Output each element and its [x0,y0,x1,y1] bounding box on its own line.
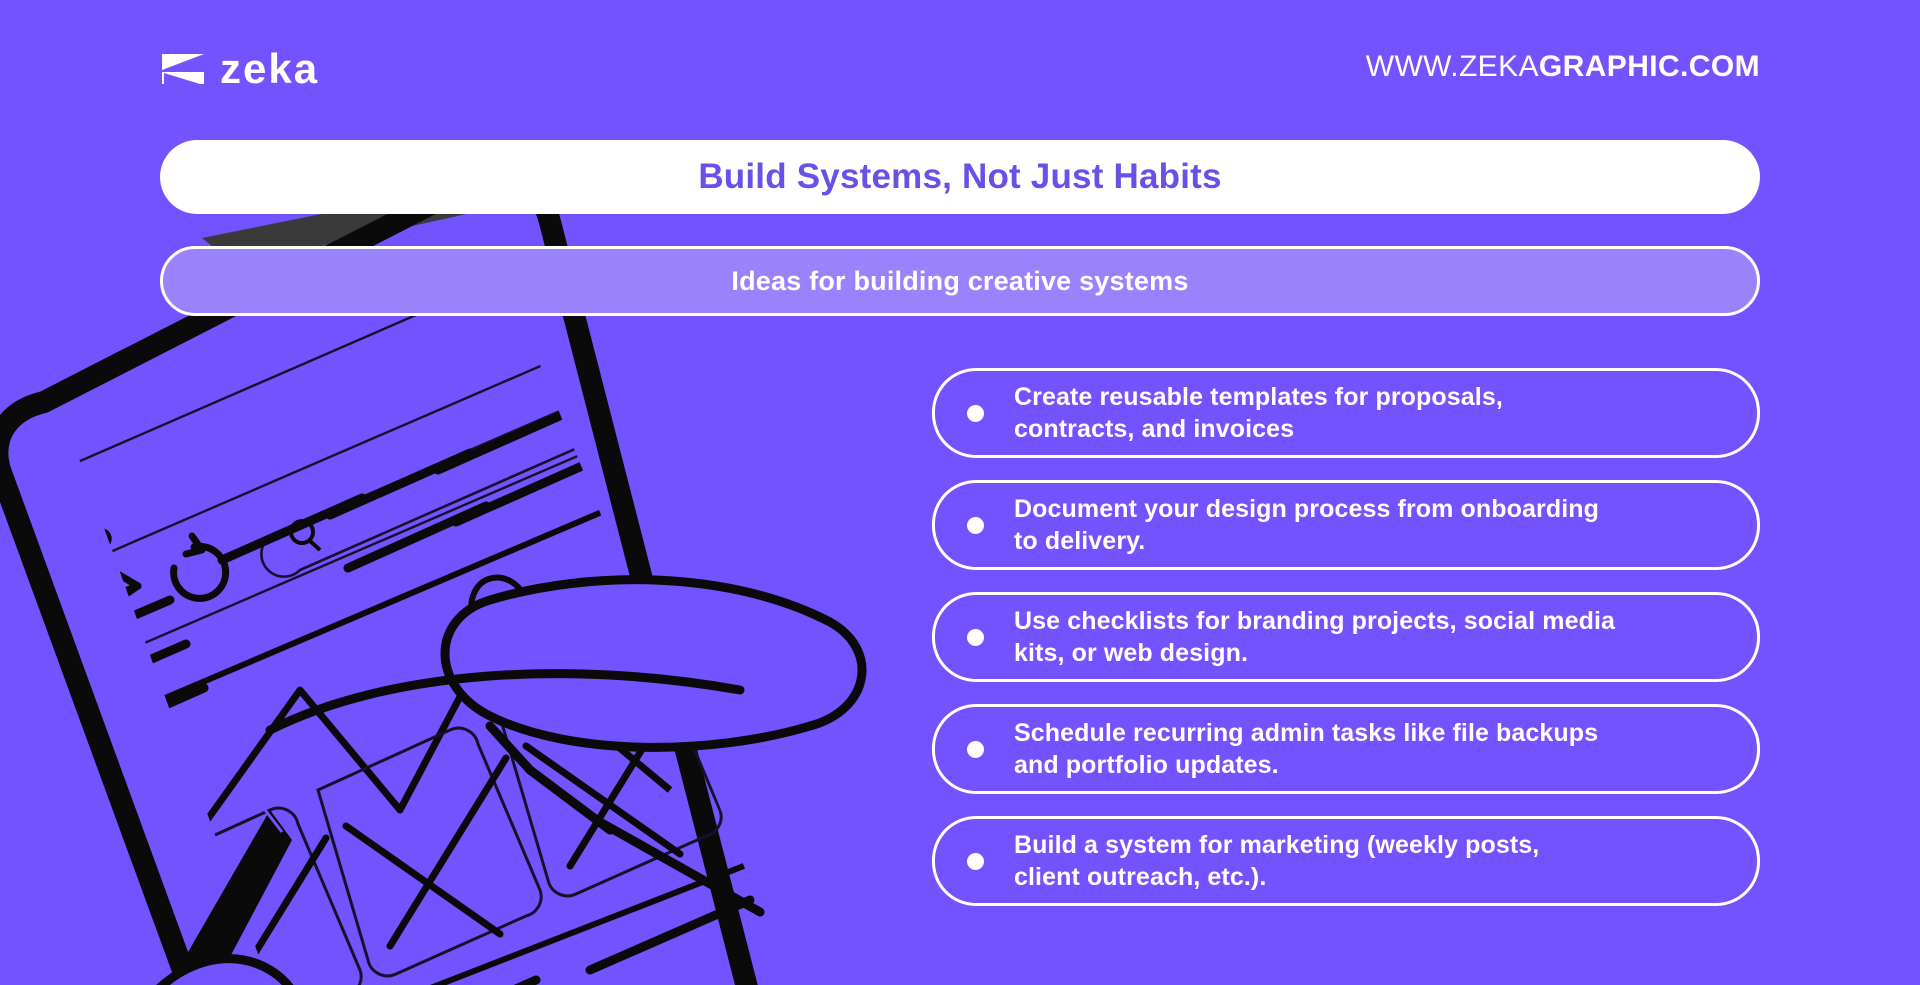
bullet-icon [967,517,984,534]
reload-icon [174,536,226,598]
bullet-icon [967,741,984,758]
list-item-text: Use checklists for branding projects, so… [1014,605,1615,669]
text-lines [400,900,764,985]
forward-arrow-icon [82,573,138,607]
list-item[interactable]: Schedule recurring admin tasks like file… [932,704,1760,794]
bullet-icon [967,405,984,422]
page-title: Build Systems, Not Just Habits [698,157,1221,197]
idea-list: Create reusable templates for proposals,… [932,368,1760,906]
site-url-light: WWW.ZEKA [1366,50,1539,83]
search-pill [261,398,609,577]
brand-name: zeka [220,48,319,90]
page-subtitle: Ideas for building creative systems [731,266,1188,297]
text-lines [30,406,600,750]
site-url-bold: GRAPHIC.COM [1539,50,1760,83]
list-item-text: Schedule recurring admin tasks like file… [1014,717,1598,781]
hand [118,959,304,985]
bullet-icon [967,629,984,646]
page-subtitle-bar: Ideas for building creative systems [160,246,1760,316]
stylus-pen [120,806,292,985]
site-url[interactable]: WWW.ZEKAGRAPHIC.COM [1366,52,1760,82]
list-item[interactable]: Build a system for marketing (weekly pos… [932,816,1760,906]
slide-canvas: zeka WWW.ZEKAGRAPHIC.COM Build Systems, … [0,0,1920,985]
traffic-light-dots [4,523,115,586]
list-item[interactable]: Use checklists for branding projects, so… [932,592,1760,682]
card-placeholders-x [138,648,721,985]
list-item[interactable]: Create reusable templates for proposals,… [932,368,1760,458]
zeka-logo-mark-icon [160,52,206,86]
bullet-icon [967,853,984,870]
magnifier-icon [291,521,320,550]
list-item-text: Create reusable templates for proposals,… [1014,381,1503,445]
page-title-bar: Build Systems, Not Just Habits [160,140,1760,214]
image-placeholder-mountain [90,499,772,985]
brand-logo[interactable]: zeka [160,48,319,90]
list-item-text: Document your design process from onboar… [1014,493,1599,557]
list-item-text: Build a system for marketing (weekly pos… [1014,829,1539,893]
list-item[interactable]: Document your design process from onboar… [932,480,1760,570]
back-arrow-icon [6,615,62,651]
hand [445,580,862,748]
